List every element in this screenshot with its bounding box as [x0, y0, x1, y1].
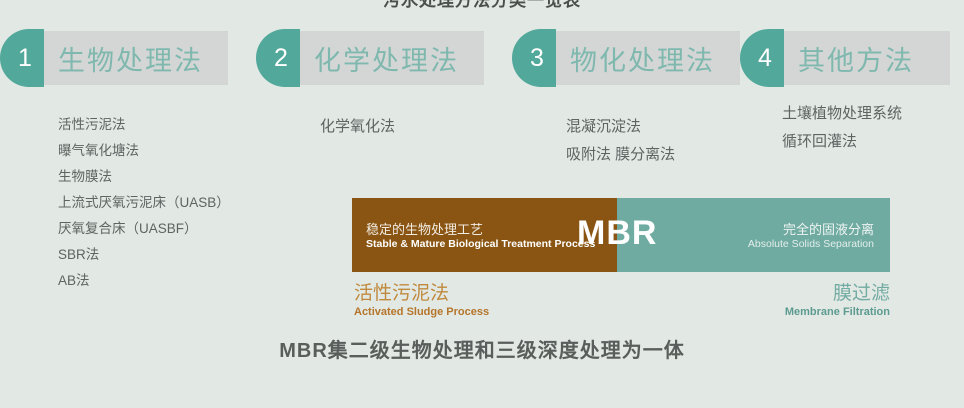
- mbr-left-label-cn: 活性污泥法: [354, 283, 489, 305]
- mbr-right-panel-cn: 完全的固液分离: [748, 222, 874, 238]
- mbr-right-panel: 完全的固液分离 Absolute Solids Separation: [617, 198, 890, 272]
- category-header-4[interactable]: 其他方法 4: [740, 29, 950, 87]
- mbr-left-label: 活性污泥法 Activated Sludge Process: [354, 283, 489, 319]
- list-item: 混凝沉淀法: [566, 113, 675, 141]
- list-item: 土壤植物处理系统: [782, 100, 902, 128]
- mbr-right-panel-text: 完全的固液分离 Absolute Solids Separation: [748, 222, 874, 251]
- category-number-badge-4: 4: [740, 29, 784, 87]
- mbr-right-label: 膜过滤 Membrane Filtration: [785, 283, 890, 319]
- category-label-2: 化学处理法: [314, 39, 459, 78]
- mbr-right-label-en: Membrane Filtration: [785, 305, 890, 319]
- mbr-left-label-en: Activated Sludge Process: [354, 305, 489, 319]
- list-item: 活性污泥法: [58, 112, 230, 138]
- page-title: 污水处理方法分类一览表: [0, 0, 964, 11]
- list-item: 循环回灌法: [782, 128, 902, 156]
- category-header-3[interactable]: 物化处理法 3: [512, 29, 740, 87]
- mbr-right-panel-en: Absolute Solids Separation: [748, 238, 874, 251]
- list-item: 化学氧化法: [320, 113, 395, 141]
- list-item: 曝气氧化塘法: [58, 138, 230, 164]
- category-plate-3: 物化处理法: [534, 31, 740, 85]
- category-plate-4: 其他方法: [762, 31, 950, 85]
- category-number-badge-2: 2: [256, 29, 300, 87]
- category-number-badge-3: 3: [512, 29, 556, 87]
- category-3-item-list: 混凝沉淀法 吸附法 膜分离法: [566, 113, 675, 169]
- list-item: 厌氧复合床（UASBF）: [58, 216, 230, 242]
- list-item: 上流式厌氧污泥床（UASB）: [58, 190, 230, 216]
- list-item: 吸附法 膜分离法: [566, 141, 675, 169]
- category-label-3: 物化处理法: [570, 39, 715, 78]
- list-item: SBR法: [58, 242, 230, 268]
- category-label-4: 其他方法: [798, 39, 914, 78]
- mbr-center-word: MBR: [577, 214, 657, 253]
- category-header-2[interactable]: 化学处理法 2: [256, 29, 484, 87]
- mbr-left-panel-text: 稳定的生物处理工艺 Stable & Mature Biological Tre…: [366, 222, 595, 251]
- category-plate-2: 化学处理法: [278, 31, 484, 85]
- category-2-item-list: 化学氧化法: [320, 113, 395, 141]
- list-item: AB法: [58, 268, 230, 294]
- category-header-1[interactable]: 生物处理法 1: [0, 29, 228, 87]
- mbr-left-panel-cn: 稳定的生物处理工艺: [366, 222, 595, 238]
- category-1-item-list: 活性污泥法 曝气氧化塘法 生物膜法 上流式厌氧污泥床（UASB） 厌氧复合床（U…: [58, 112, 230, 294]
- category-header-row: 生物处理法 1 化学处理法 2 物化处理法 3 其他方法 4: [0, 29, 964, 87]
- list-item: 生物膜法: [58, 164, 230, 190]
- category-label-1: 生物处理法: [58, 39, 203, 78]
- category-4-item-list: 土壤植物处理系统 循环回灌法: [782, 100, 902, 156]
- mbr-left-panel-en: Stable & Mature Biological Treatment Pro…: [366, 238, 595, 251]
- category-number-badge-1: 1: [0, 29, 44, 87]
- mbr-right-label-cn: 膜过滤: [785, 283, 890, 305]
- category-plate-1: 生物处理法: [22, 31, 228, 85]
- bottom-caption: MBR集二级生物处理和三级深度处理为一体: [0, 334, 964, 363]
